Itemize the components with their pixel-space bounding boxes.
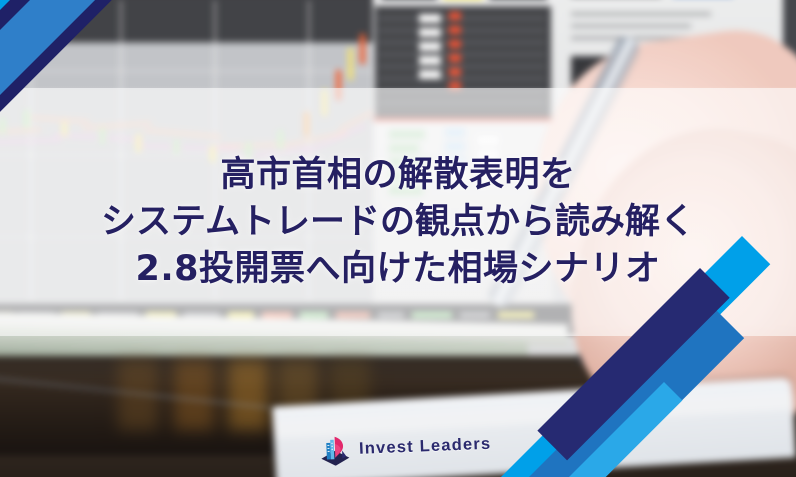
brand-logo: Invest Leaders [319,428,491,467]
title-line-3: 2.8投開票へ向けた相場シナリオ [0,246,796,293]
brand-name: Invest Leaders [359,434,492,458]
building-chart-icon [319,433,350,466]
page-title: 高市首相の解散表明を システムトレードの観点から読み解く 2.8投開票へ向けた相… [0,152,796,293]
title-line-2: システムトレードの観点から読み解く [0,199,796,246]
title-line-1: 高市首相の解散表明を [0,152,796,199]
banner-image: 高市首相の解散表明を システムトレードの観点から読み解く 2.8投開票へ向けた相… [0,0,796,477]
